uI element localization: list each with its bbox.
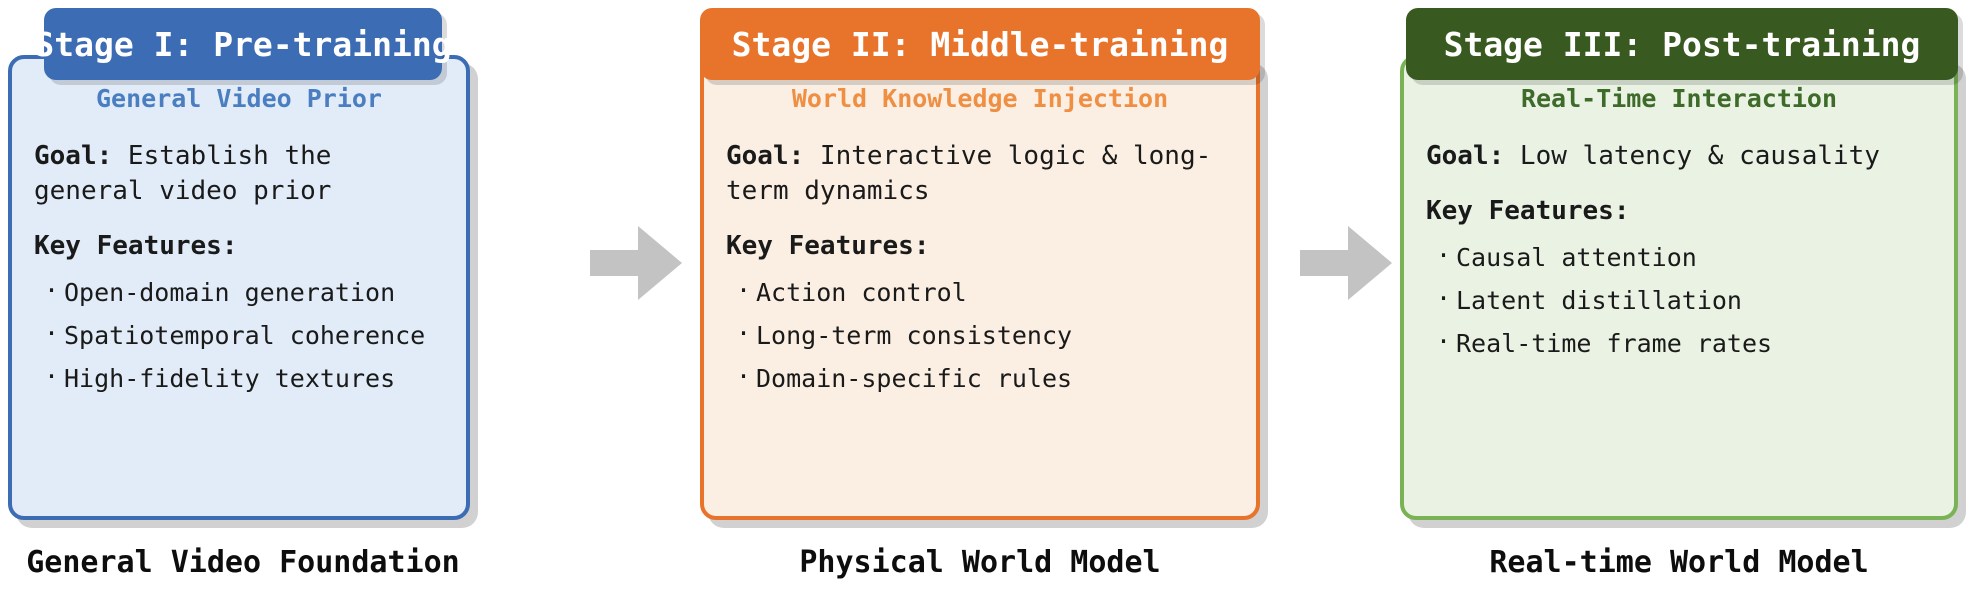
arrow-stage2-to-stage3: [1300, 226, 1392, 300]
list-item: Latent distillation: [1426, 279, 1932, 322]
list-item: Open-domain generation: [34, 271, 444, 314]
list-item: Spatiotemporal coherence: [34, 314, 444, 357]
list-item: Long-term consistency: [726, 314, 1234, 357]
stage-card-3-header: Stage III: Post-training: [1406, 8, 1958, 80]
stage-card-2-content: World Knowledge Injection Goal: Interact…: [700, 62, 1260, 527]
stage-card-3-goal-text: Low latency & causality: [1504, 141, 1880, 171]
stage-card-1-subtitle: General Video Prior: [34, 84, 444, 113]
stage-card-1: Stage I: Pre-training General Video Prio…: [8, 0, 478, 520]
stage-card-1-features-label: Key Features:: [34, 231, 444, 261]
stage-caption-3: Real-time World Model: [1400, 545, 1958, 580]
stage-card-2-goal-label: Goal:: [726, 141, 804, 171]
stage-card-2-features-label: Key Features:: [726, 231, 1234, 261]
arrow-right-icon: [1300, 226, 1392, 300]
stage-caption-1: General Video Foundation: [8, 545, 478, 580]
stage-card-1-feature-list: Open-domain generation Spatiotemporal co…: [34, 271, 444, 400]
list-item: Action control: [726, 271, 1234, 314]
arrow-right-icon: [590, 226, 682, 300]
stage-caption-2: Physical World Model: [700, 545, 1260, 580]
stage-card-3-content: Real-Time Interaction Goal: Low latency …: [1400, 62, 1958, 527]
stage-card-3-feature-list: Causal attention Latent distillation Rea…: [1426, 236, 1932, 365]
stage-card-2-header-label: Stage II: Middle-training: [732, 25, 1229, 64]
stage-card-1-goal-label: Goal:: [34, 141, 112, 171]
stage-card-1-header: Stage I: Pre-training: [44, 8, 442, 80]
stage-card-2-header: Stage II: Middle-training: [700, 8, 1260, 80]
diagram-root: Stage I: Pre-training General Video Prio…: [0, 0, 1972, 601]
stage-card-2-subtitle: World Knowledge Injection: [726, 84, 1234, 113]
stage-card-1-goal: Goal: Establish the general video prior: [34, 139, 444, 209]
stage-card-3-header-label: Stage III: Post-training: [1444, 25, 1921, 64]
stage-card-3-goal: Goal: Low latency & causality: [1426, 139, 1932, 174]
arrow-stage1-to-stage2: [590, 226, 682, 300]
stage-card-1-header-label: Stage I: Pre-training: [34, 25, 451, 64]
list-item: Domain-specific rules: [726, 357, 1234, 400]
list-item: Real-time frame rates: [1426, 322, 1932, 365]
stage-card-1-content: General Video Prior Goal: Establish the …: [8, 62, 470, 527]
stage-card-2: Stage II: Middle-training World Knowledg…: [700, 0, 1265, 520]
stage-card-3: Stage III: Post-training Real-Time Inter…: [1400, 0, 1965, 520]
stage-card-3-features-label: Key Features:: [1426, 196, 1932, 226]
stage-card-3-goal-label: Goal:: [1426, 141, 1504, 171]
stage-card-2-goal: Goal: Interactive logic & long-term dyna…: [726, 139, 1234, 209]
stage-card-3-subtitle: Real-Time Interaction: [1426, 84, 1932, 113]
list-item: High-fidelity textures: [34, 357, 444, 400]
list-item: Causal attention: [1426, 236, 1932, 279]
stage-card-2-feature-list: Action control Long-term consistency Dom…: [726, 271, 1234, 400]
